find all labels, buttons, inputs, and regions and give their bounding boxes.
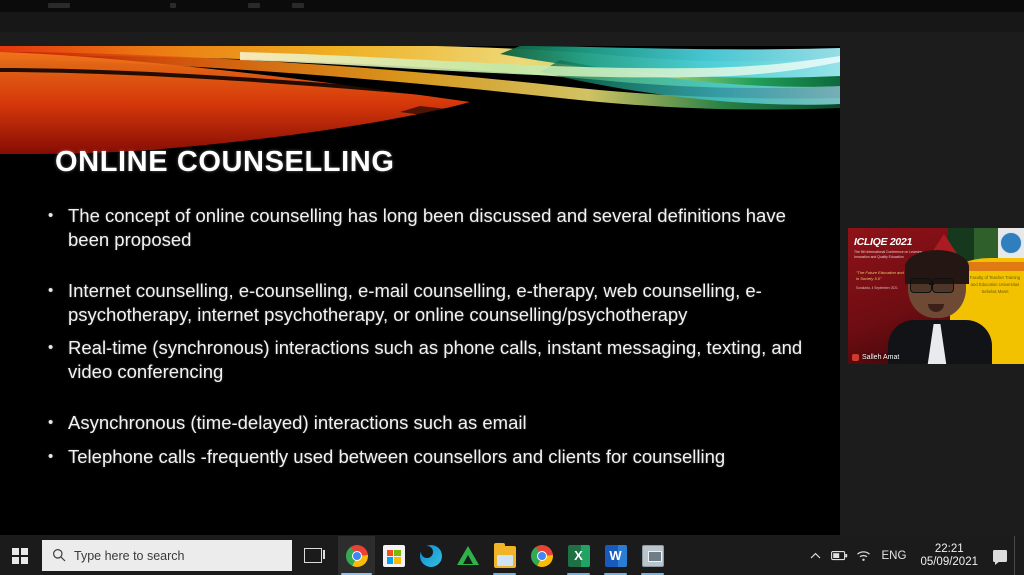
search-icon bbox=[52, 548, 66, 564]
window-chrome-strip bbox=[0, 0, 1024, 12]
video-backdrop-logo bbox=[1000, 232, 1022, 254]
bullet-marker: • bbox=[48, 204, 68, 228]
conference-banner-title: ICLIQE 2021 bbox=[854, 236, 912, 248]
chrome-strip-item-1 bbox=[48, 3, 70, 8]
chrome-icon bbox=[531, 545, 553, 567]
mic-muted-icon bbox=[852, 354, 859, 361]
speaker-name-badge: Salleh Amat bbox=[852, 354, 899, 361]
excel-icon: X bbox=[568, 545, 590, 567]
tray-language-indicator[interactable]: ENG bbox=[876, 550, 913, 562]
tray-network-button[interactable] bbox=[852, 536, 876, 575]
chrome-strip-item-4 bbox=[292, 3, 304, 8]
tray-time: 22:21 bbox=[935, 543, 964, 556]
chevron-up-icon bbox=[810, 552, 821, 560]
bullet-item-1: • The concept of online counselling has … bbox=[48, 204, 808, 251]
wifi-icon bbox=[856, 550, 871, 562]
chrome-icon bbox=[346, 545, 368, 567]
excel-icon-glyph: X bbox=[574, 548, 583, 563]
bullet-item-5: • Telephone calls -frequently used betwe… bbox=[48, 445, 808, 469]
system-tray: ENG 22:21 05/09/2021 bbox=[804, 536, 1024, 575]
bullet-spacer bbox=[48, 251, 808, 279]
bullet-marker: • bbox=[48, 279, 68, 303]
edge-icon bbox=[420, 545, 442, 567]
bullet-text: The concept of online counselling has lo… bbox=[68, 204, 808, 251]
word-icon-glyph: W bbox=[609, 548, 621, 563]
notification-icon bbox=[993, 550, 1007, 562]
folder-icon bbox=[494, 546, 516, 568]
taskbar-app-file-explorer[interactable] bbox=[486, 536, 523, 575]
task-view-button[interactable] bbox=[292, 536, 334, 575]
windows-taskbar: Type here to search bbox=[0, 536, 1024, 575]
show-desktop-button[interactable] bbox=[1014, 536, 1020, 575]
windows-logo-icon bbox=[12, 548, 28, 564]
chrome-strip-item-3 bbox=[248, 3, 260, 8]
bullet-text: Internet counselling, e-counselling, e-m… bbox=[68, 279, 808, 326]
presentation-slide: ONLINE COUNSELLING • The concept of onli… bbox=[0, 46, 840, 535]
tray-clock[interactable]: 22:21 05/09/2021 bbox=[912, 536, 986, 575]
search-input[interactable]: Type here to search bbox=[42, 540, 292, 571]
task-view-icon bbox=[304, 548, 322, 563]
remote-desktop-icon bbox=[642, 545, 664, 567]
taskbar-app-microsoft-word[interactable]: W bbox=[597, 536, 634, 575]
taskbar-app-google-chrome[interactable] bbox=[523, 536, 560, 575]
bullet-item-2: • Internet counselling, e-counselling, e… bbox=[48, 279, 808, 326]
bullet-marker: • bbox=[48, 445, 68, 469]
bullet-item-3: • Real-time (synchronous) interactions s… bbox=[48, 336, 808, 383]
conference-backdrop-text: Faculty of Teacher Training and Educatio… bbox=[966, 274, 1024, 295]
speaker-glasses-left bbox=[910, 278, 932, 293]
conference-banner-date: Surakarta, 4 September 2021 bbox=[856, 286, 898, 290]
window-chrome-row bbox=[0, 12, 1024, 32]
speaker-glasses-bridge bbox=[929, 283, 934, 285]
bullet-marker: • bbox=[48, 411, 68, 435]
chrome-strip-item-2 bbox=[170, 3, 176, 8]
taskbar-app-google-chrome-active[interactable] bbox=[338, 536, 375, 575]
bullet-spacer bbox=[48, 383, 808, 411]
slide-header-swoosh bbox=[0, 46, 840, 154]
app-root: ONLINE COUNSELLING • The concept of onli… bbox=[0, 0, 1024, 575]
bullet-text: Real-time (synchronous) interactions suc… bbox=[68, 336, 808, 383]
start-button[interactable] bbox=[0, 536, 40, 575]
speaker-glasses-right bbox=[932, 278, 954, 293]
slide-title: ONLINE COUNSELLING bbox=[55, 146, 394, 179]
taskbar-app-microsoft-edge[interactable] bbox=[412, 536, 449, 575]
notification-center-button[interactable] bbox=[986, 536, 1014, 575]
store-icon bbox=[383, 545, 405, 567]
bullet-marker: • bbox=[48, 336, 68, 360]
speaker-video-tile[interactable]: ICLIQE 2021 The 5th International Confer… bbox=[848, 228, 1024, 364]
speaker-name-label: Salleh Amat bbox=[862, 354, 899, 361]
taskbar-app-list: X W bbox=[338, 536, 671, 575]
taskbar-app-green-triangle-app[interactable] bbox=[449, 536, 486, 575]
bullet-item-4: • Asynchronous (time-delayed) interactio… bbox=[48, 411, 808, 435]
battery-icon bbox=[831, 550, 848, 561]
bullet-spacer bbox=[48, 326, 808, 336]
tray-battery-button[interactable] bbox=[828, 536, 852, 575]
search-placeholder-text: Type here to search bbox=[74, 549, 184, 563]
triangle-icon bbox=[457, 545, 479, 567]
bullet-spacer bbox=[48, 435, 808, 445]
tray-overflow-button[interactable] bbox=[804, 536, 828, 575]
word-icon: W bbox=[605, 545, 627, 567]
slide-bullet-list: • The concept of online counselling has … bbox=[48, 204, 808, 468]
taskbar-app-remote-desktop[interactable] bbox=[634, 536, 671, 575]
bullet-text: Asynchronous (time-delayed) interactions… bbox=[68, 411, 808, 435]
taskbar-app-microsoft-excel[interactable]: X bbox=[560, 536, 597, 575]
taskbar-app-microsoft-store[interactable] bbox=[375, 536, 412, 575]
tray-date: 05/09/2021 bbox=[920, 556, 978, 569]
bullet-text: Telephone calls -frequently used between… bbox=[68, 445, 808, 469]
